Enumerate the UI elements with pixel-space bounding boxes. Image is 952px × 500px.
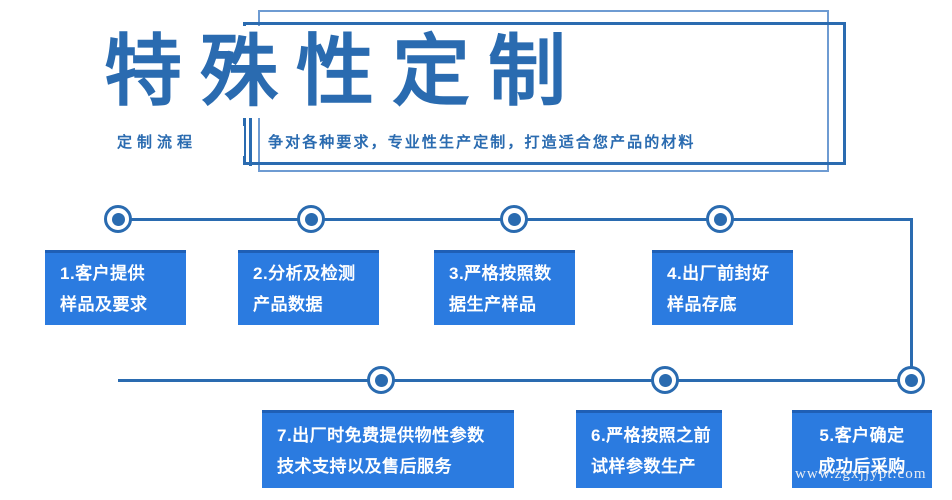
step-1-line-1: 1.客户提供 (60, 258, 145, 289)
flow-node-6 (651, 366, 679, 394)
step-5-line-1: 5.客户确定 (819, 420, 904, 451)
step-box-3[interactable]: 3.严格按照数 据生产样品 (434, 250, 575, 325)
subtitle-divider (249, 118, 252, 166)
step-2-line-1: 2.分析及检测 (253, 258, 356, 289)
step-box-1[interactable]: 1.客户提供 样品及要求 (45, 250, 186, 325)
step-box-7[interactable]: 7.出厂时免费提供物性参数 技术支持以及售后服务 (262, 410, 514, 488)
infographic-canvas: 特殊性定制 定制流程 争对各种要求，专业性生产定制，打造适合您产品的材料 1.客… (0, 0, 952, 500)
step-2-line-2: 产品数据 (253, 289, 323, 320)
step-7-line-1: 7.出厂时免费提供物性参数 (277, 420, 485, 451)
step-1-line-2: 样品及要求 (60, 289, 148, 320)
step-box-4[interactable]: 4.出厂前封好 样品存底 (652, 250, 793, 325)
flow-node-4 (706, 205, 734, 233)
flow-node-7 (367, 366, 395, 394)
right-rail-vertical (910, 218, 913, 382)
flow-node-5 (897, 366, 925, 394)
step-6-line-2: 试样参数生产 (591, 451, 696, 482)
step-3-line-2: 据生产样品 (449, 289, 537, 320)
subtitle-right: 争对各种要求，专业性生产定制，打造适合您产品的材料 (268, 131, 696, 152)
page-title: 特殊性定制 (104, 28, 704, 116)
step-7-line-2: 技术支持以及售后服务 (277, 451, 452, 482)
step-3-line-1: 3.严格按照数 (449, 258, 552, 289)
flow-node-2 (297, 205, 325, 233)
step-box-6[interactable]: 6.严格按照之前 试样参数生产 (576, 410, 722, 488)
site-watermark: www.zgxjjypt.com (795, 466, 927, 483)
step-4-line-1: 4.出厂前封好 (667, 258, 770, 289)
bottom-rail-horizontal (118, 379, 913, 382)
subtitle-left: 定制流程 (117, 131, 197, 152)
flow-node-3 (500, 205, 528, 233)
flow-node-1 (104, 205, 132, 233)
step-box-2[interactable]: 2.分析及检测 产品数据 (238, 250, 379, 325)
step-4-line-2: 样品存底 (667, 289, 737, 320)
step-6-line-1: 6.严格按照之前 (591, 420, 711, 451)
